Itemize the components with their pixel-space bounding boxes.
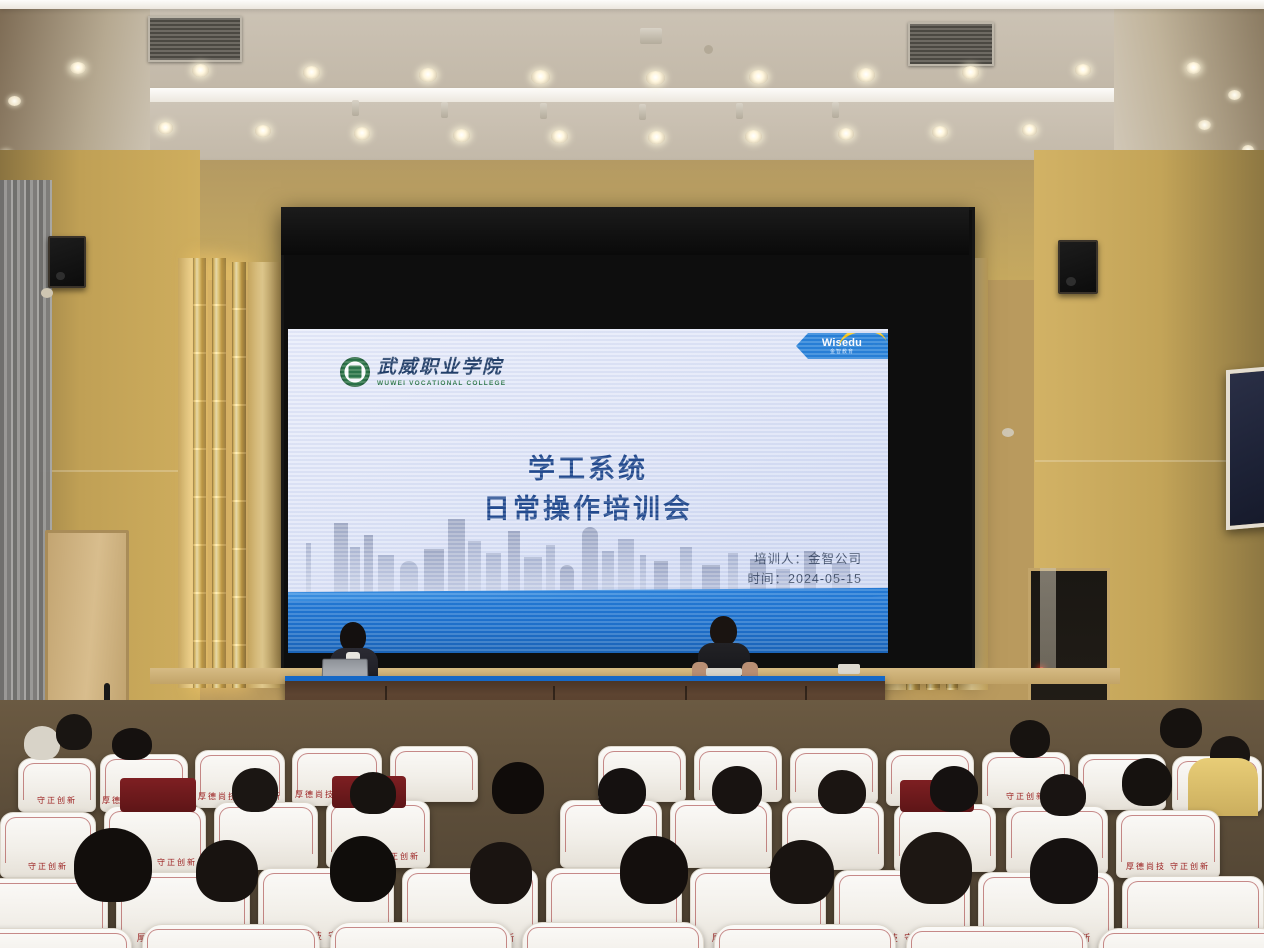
- audience-head-front: [330, 836, 396, 902]
- downlight-side: [8, 96, 21, 106]
- speaker-left-icon: [48, 236, 86, 288]
- downlight: [749, 70, 768, 84]
- chair[interactable]: [330, 922, 512, 948]
- audience-head: [712, 766, 762, 814]
- speaker-right-icon: [1058, 240, 1098, 294]
- skyline-building: [546, 545, 555, 595]
- chair-motto: 厚德尚技 守正创新: [1117, 861, 1219, 872]
- display-board-right[interactable]: [1226, 366, 1264, 530]
- skyline-building: [306, 543, 311, 595]
- skyline-building: [486, 553, 501, 595]
- audience-head: [112, 728, 152, 760]
- ceiling-beam-1: [138, 88, 1128, 102]
- skyline-building: [468, 541, 481, 595]
- slide-date-line: 时间：2024-05-15: [748, 568, 862, 587]
- downlight: [158, 122, 173, 134]
- audience-head: [598, 768, 646, 814]
- skyline-building: [378, 555, 394, 595]
- downlight: [1022, 124, 1037, 136]
- desk-item: [838, 664, 860, 674]
- wisedu-brand-sub: 金智教育: [830, 350, 854, 355]
- audience-head: [930, 766, 978, 812]
- audience-head: [1160, 708, 1202, 748]
- person-head: [710, 616, 737, 646]
- audience-head: [492, 762, 544, 814]
- ceiling-projector-mount: [640, 28, 662, 44]
- downlight: [419, 68, 437, 82]
- downlight: [1186, 62, 1201, 74]
- wall-mount-bracket: [41, 288, 53, 298]
- downlight: [932, 126, 948, 138]
- downlight: [646, 71, 665, 85]
- skyline-building: [334, 523, 348, 595]
- ceiling-sensor-icon: [704, 45, 713, 54]
- slide-title-line1: 学工系统: [288, 447, 888, 486]
- downlight-side: [1228, 90, 1241, 100]
- downlight: [1075, 64, 1091, 76]
- downlight: [192, 64, 209, 77]
- college-name-cn: 武威职业学院: [377, 358, 506, 377]
- audience-head-front: [620, 836, 688, 904]
- skyline-building: [524, 557, 542, 595]
- microphone-base[interactable]: [706, 668, 742, 676]
- audience-head: [1010, 720, 1050, 758]
- downlight: [962, 66, 979, 79]
- gold-column-left-3: [232, 262, 246, 688]
- downlight: [303, 66, 320, 79]
- skyline-building: [680, 547, 692, 595]
- downlight: [648, 131, 665, 144]
- led-screen-hood: [281, 207, 969, 255]
- downlight: [838, 128, 854, 140]
- skyline-building: [602, 551, 614, 595]
- audience-head-front: [1030, 838, 1098, 904]
- chair[interactable]: [714, 924, 896, 948]
- downlight: [745, 130, 762, 143]
- track-spot: [832, 102, 839, 118]
- gold-column-left-2: [212, 258, 226, 688]
- hvac-vent-right-icon: [908, 22, 994, 66]
- slide-footer-band: [288, 597, 888, 653]
- skyline-building: [582, 527, 598, 595]
- track-spot: [540, 103, 547, 119]
- presentation-slide[interactable]: Wisedu 金智教育 武威职业学院 WUWEI VOCATIONAL COLL…: [288, 329, 888, 653]
- skyline-building: [618, 539, 634, 595]
- downlight: [453, 129, 470, 142]
- downlight: [354, 127, 370, 140]
- ceiling-edge-top: [0, 0, 1264, 9]
- downlight: [531, 70, 550, 84]
- chair[interactable]: [906, 926, 1088, 948]
- skyline-building: [448, 519, 465, 595]
- downlight: [857, 68, 875, 82]
- skyline-building: [364, 535, 373, 595]
- track-spot: [441, 102, 448, 118]
- audience-head-front: [900, 832, 972, 904]
- downlight: [551, 130, 568, 143]
- audience-head: [1122, 758, 1172, 806]
- audience-head: [818, 770, 866, 814]
- college-logo: 武威职业学院 WUWEI VOCATIONAL COLLEGE: [340, 357, 506, 387]
- audience-head: [232, 768, 278, 812]
- college-name-en: WUWEI VOCATIONAL COLLEGE: [377, 380, 506, 387]
- audience-head: [350, 772, 396, 814]
- downlight-side: [1198, 120, 1211, 130]
- downlight: [255, 125, 271, 137]
- chair[interactable]: [0, 928, 132, 948]
- college-emblem-icon: [340, 357, 370, 387]
- college-logo-text: 武威职业学院 WUWEI VOCATIONAL COLLEGE: [377, 358, 506, 387]
- audience-person-yellow-jacket: [1188, 758, 1258, 816]
- skyline-building: [424, 549, 444, 595]
- auditorium-photo: Wisedu 金智教育 武威职业学院 WUWEI VOCATIONAL COLL…: [0, 0, 1264, 948]
- skyline-building: [350, 547, 360, 595]
- skyline-building: [400, 561, 418, 595]
- wisedu-logo-badge: Wisedu 金智教育: [796, 333, 888, 359]
- audience-seating-area: 守正创新 厚德尚技 守正创新 厚德尚技 守正创新 厚德尚技 守正创新 守正创新 …: [0, 700, 1264, 948]
- gold-column-left-1: [193, 258, 206, 688]
- seat-cushion: [120, 778, 196, 812]
- track-spot: [352, 100, 359, 116]
- chair[interactable]: [142, 924, 320, 948]
- audience-head: [56, 714, 92, 750]
- column-backing-left-2: [248, 262, 280, 688]
- track-spot: [736, 103, 743, 119]
- chair[interactable]: [522, 922, 704, 948]
- chair[interactable]: [1098, 928, 1264, 948]
- audience-head-front: [470, 842, 532, 904]
- audience-head-front: [196, 840, 258, 902]
- ceiling-panel-mid: [150, 102, 1114, 164]
- skyline-building: [508, 531, 520, 595]
- audience-head: [24, 726, 60, 760]
- audience-head: [1040, 774, 1086, 816]
- chair[interactable]: 厚德尚技 守正创新: [1116, 810, 1220, 878]
- audience-head-front: [770, 840, 834, 904]
- doorway-light-strip: [1040, 568, 1056, 678]
- slide-trainer-line: 培训人：金智公司: [754, 548, 862, 567]
- downlight: [70, 62, 86, 74]
- track-spot: [639, 104, 646, 120]
- wisedu-swoosh-icon: [837, 329, 887, 348]
- audience-head-front: [74, 828, 152, 902]
- hvac-vent-left-icon: [148, 16, 242, 62]
- chair-motto: 守正创新: [19, 795, 95, 806]
- wall-camera-icon: [1002, 428, 1014, 437]
- chair[interactable]: 守正创新: [18, 758, 96, 812]
- wall-trim-left: [40, 470, 200, 472]
